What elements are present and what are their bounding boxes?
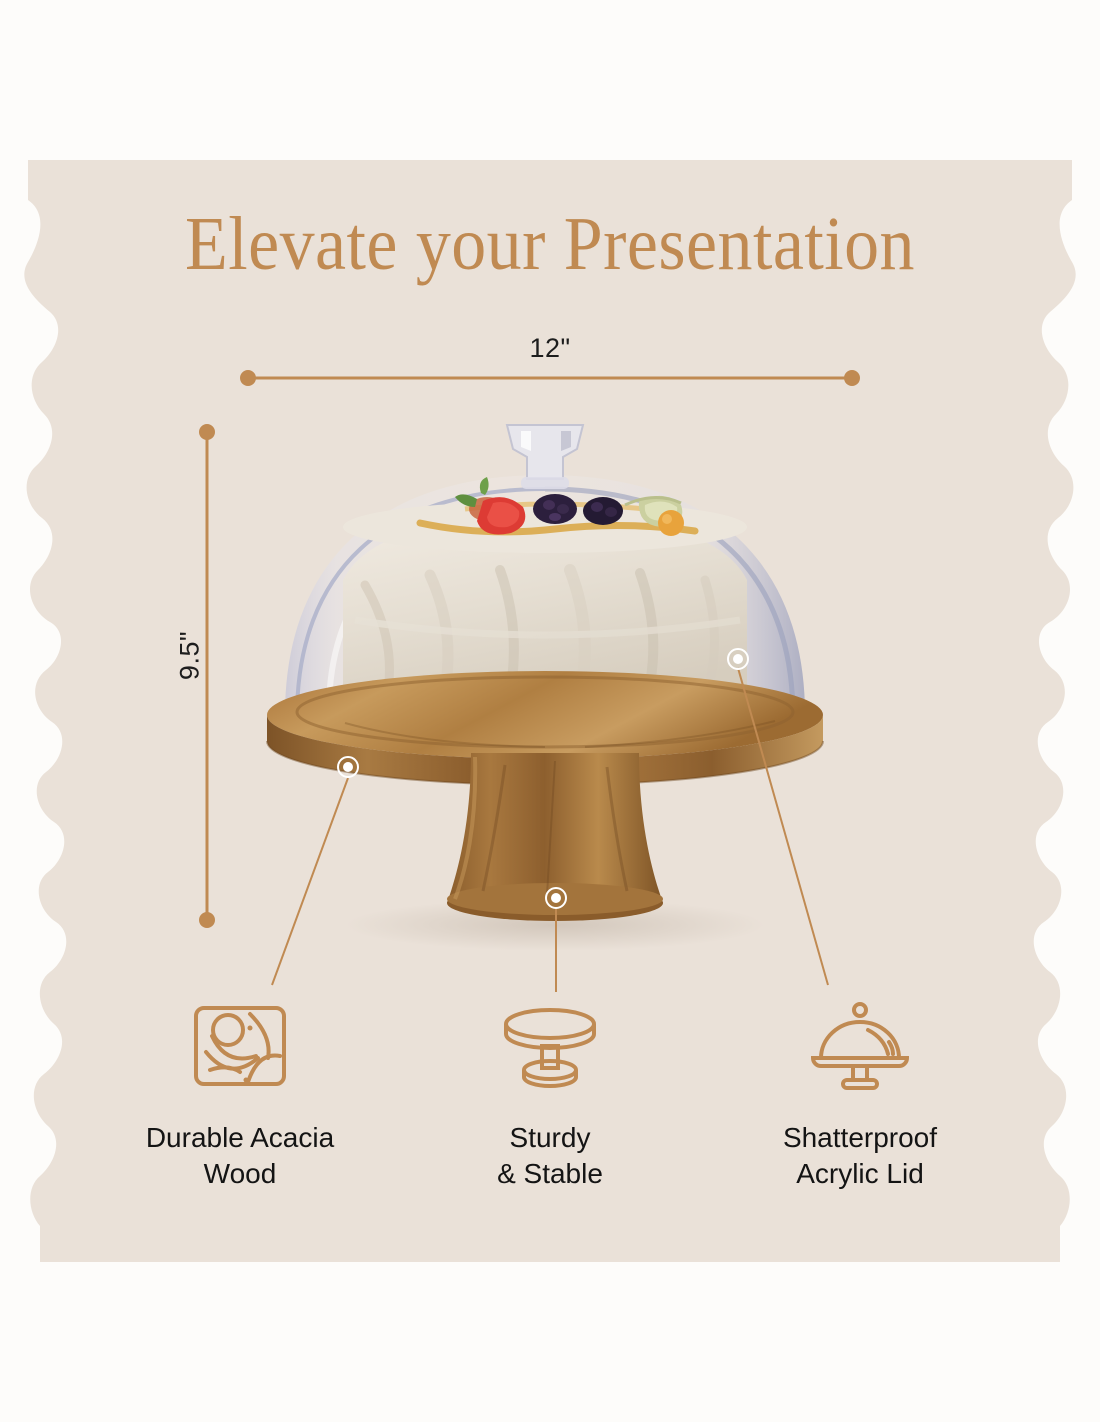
feature-caption: Shatterproof Acrylic Lid [783,1120,937,1192]
cake-stand-icon [495,1000,605,1092]
feature-caption: Durable Acacia Wood [146,1120,334,1192]
feature-list: Durable Acacia Wood Sturdy & Stable [100,1000,1000,1192]
callout-dot-acacia-wood[interactable] [337,756,359,778]
infographic-canvas: Elevate your Presentation 12" 9.5" [0,0,1100,1422]
feature-item-acacia-wood: Durable Acacia Wood [100,1000,380,1192]
feature-item-acrylic-lid: Shatterproof Acrylic Lid [720,1000,1000,1192]
callout-dot-acrylic-lid[interactable] [727,648,749,670]
feature-item-sturdy-stable: Sturdy & Stable [410,1000,690,1192]
wood-grain-icon [188,1000,292,1092]
callout-dot-pedestal[interactable] [545,887,567,909]
feature-caption: Sturdy & Stable [497,1120,603,1192]
callout-leader-lines [0,0,1100,1422]
dome-cloche-icon [805,1000,915,1092]
